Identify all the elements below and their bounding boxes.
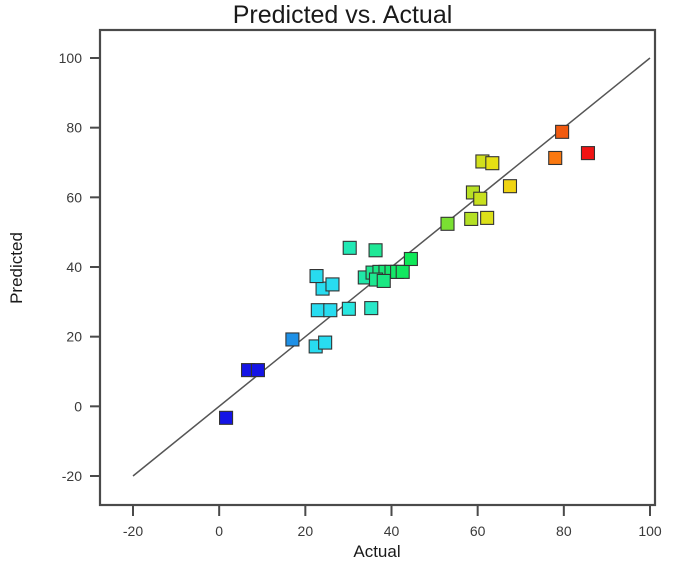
data-point-marker <box>319 336 332 349</box>
data-point-marker <box>342 302 355 315</box>
y-axis-tick-labels: -20020406080100 <box>59 50 83 484</box>
data-point-marker <box>311 304 324 317</box>
data-point-marker <box>441 217 454 230</box>
data-point-marker <box>396 265 409 278</box>
y-tick-label: 0 <box>74 398 82 414</box>
x-tick-label: 100 <box>638 523 662 539</box>
data-point-marker <box>324 304 337 317</box>
data-point-marker <box>556 125 569 138</box>
x-axis-tick-labels: -20020406080100 <box>123 523 662 539</box>
data-point-marker <box>404 252 417 265</box>
scatter-plot-svg: -20020406080100 -20020406080100 Actual P… <box>0 0 685 570</box>
data-point-marker <box>549 151 562 164</box>
y-tick-label: 100 <box>59 50 83 66</box>
y-tick-label: 80 <box>66 120 82 136</box>
x-tick-label: 60 <box>470 523 486 539</box>
x-tick-label: -20 <box>123 523 143 539</box>
x-tick-label: 20 <box>298 523 314 539</box>
data-point-marker <box>465 212 478 225</box>
data-point-marker <box>486 157 499 170</box>
x-axis-title: Actual <box>353 542 400 561</box>
data-points-layer <box>220 125 595 424</box>
x-tick-label: 0 <box>215 523 223 539</box>
y-tick-label: 20 <box>66 329 82 345</box>
y-axis-title: Predicted <box>7 232 26 304</box>
data-point-marker <box>365 302 378 315</box>
data-point-marker <box>286 333 299 346</box>
x-axis-ticks <box>133 505 650 516</box>
y-axis-ticks <box>90 58 100 476</box>
data-point-marker <box>474 192 487 205</box>
data-point-marker <box>503 180 516 193</box>
y-tick-label: -20 <box>62 468 82 484</box>
data-point-marker <box>581 147 594 160</box>
data-point-marker <box>377 274 390 287</box>
data-point-marker <box>220 411 233 424</box>
x-tick-label: 40 <box>384 523 400 539</box>
x-tick-label: 80 <box>556 523 572 539</box>
y-tick-label: 40 <box>66 259 82 275</box>
chart-figure: Predicted vs. Actual -20020406080100 -20… <box>0 0 685 570</box>
y-tick-label: 60 <box>66 189 82 205</box>
data-point-marker <box>251 364 264 377</box>
data-point-marker <box>310 270 323 283</box>
data-point-marker <box>369 244 382 257</box>
data-point-marker <box>481 211 494 224</box>
data-point-marker <box>343 241 356 254</box>
data-point-marker <box>326 278 339 291</box>
